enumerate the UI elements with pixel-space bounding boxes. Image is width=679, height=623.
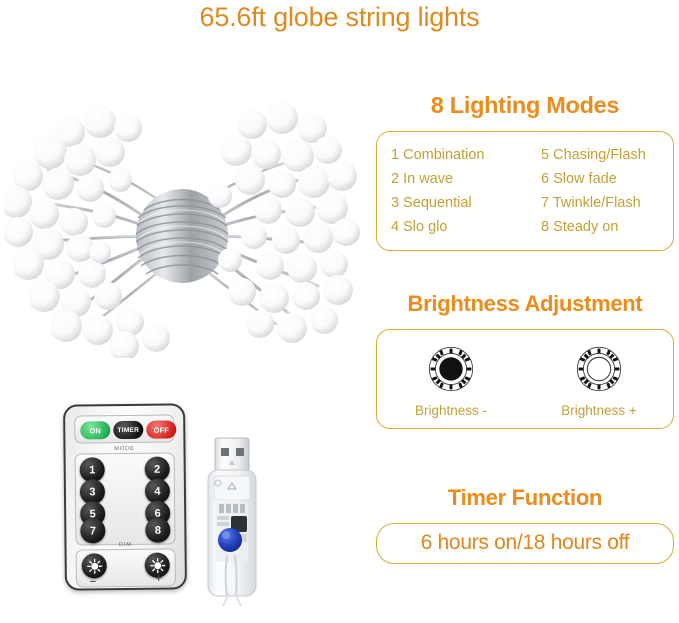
mode-item-8: 8 Steady on [541,216,679,238]
mode-item-6: 6 Slow fade [541,168,679,190]
remote-mode-panel: 1 2 3 4 5 6 7 8 [75,452,176,545]
timer-value: 6 hours on/18 hours off [377,531,673,555]
sun-icon [86,558,102,574]
remote-control[interactable]: ON TIMER OFF MODE 1 2 3 4 5 6 7 8 DIM [63,403,187,590]
remote-timer-button[interactable]: TIMER [113,421,143,439]
timer-heading: Timer Function [376,485,674,511]
modes-heading: 8 Lighting Modes [376,92,674,119]
mode-item-2: 2 In wave [391,168,541,190]
remote-plus-sign: + [155,573,162,585]
brightness-heading: Brightness Adjustment [376,291,674,317]
mode-item-4: 4 Slo glo [391,216,541,238]
mode-item-5: 5 Chasing/Flash [541,144,679,166]
remote-button-8[interactable]: 8 [145,518,170,543]
feature-column: 8 Lighting Modes 1 Combination 5 Chasing… [376,92,674,564]
modes-card: 1 Combination 5 Chasing/Flash 2 In wave … [376,131,674,251]
remote-minus-sign: – [90,575,96,587]
remote-on-button[interactable]: ON [80,421,110,439]
remote-button-7[interactable]: 7 [80,518,105,543]
remote-power-panel: ON TIMER OFF [74,414,174,443]
sun-hollow-icon [573,343,625,395]
page-title: 65.6ft globe string lights [0,2,679,33]
usb-connector [203,436,261,606]
remote-dim-label: DIM [71,541,179,548]
mode-item-3: 3 Sequential [391,192,541,214]
sun-icon [149,557,165,573]
remote-dim-panel: – + [76,548,176,587]
remote-mode-label: MODE [70,445,178,452]
timer-card: 6 hours on/18 hours off [376,523,674,564]
brightness-minus-label: Brightness - [415,403,487,418]
brightness-plus-label: Brightness + [561,403,636,418]
infographic-page: 65.6ft globe string lights [0,0,679,623]
sun-filled-icon [425,343,477,395]
mode-item-1: 1 Combination [391,144,541,166]
mode-item-7: 7 Twinkle/Flash [541,192,679,214]
remote-off-button[interactable]: OFF [146,420,176,438]
brightness-up-cell: Brightness + [525,343,673,418]
modes-grid: 1 Combination 5 Chasing/Flash 2 In wave … [377,142,673,240]
brightness-down-cell: Brightness - [377,343,525,418]
globe-string-lights-bundle [4,84,360,358]
brightness-card: Brightness - [376,329,674,429]
